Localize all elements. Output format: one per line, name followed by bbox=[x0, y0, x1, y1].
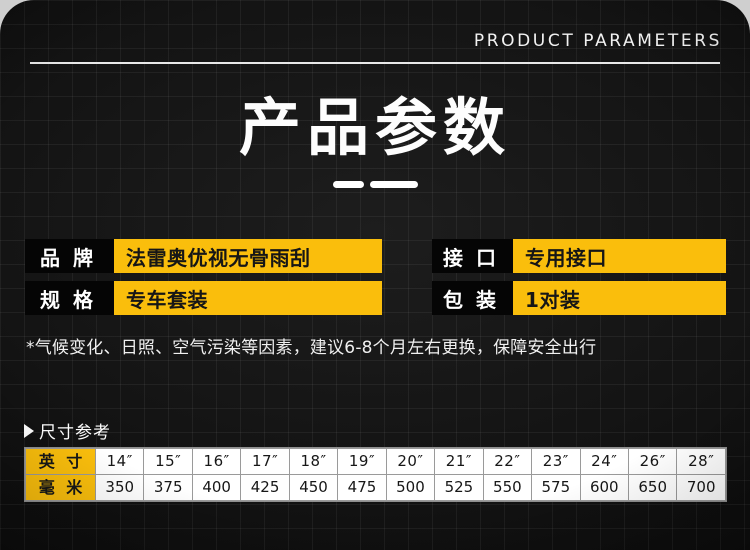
dark-panel: PRODUCT PARAMETERS 产品参数 品 牌 法雷奥优视无骨雨刮 规 … bbox=[0, 0, 750, 550]
table-cell: 24″ bbox=[580, 449, 628, 475]
size-reference-heading: 尺寸参考 bbox=[24, 418, 111, 443]
spec-value-specification: 专车套装 bbox=[114, 281, 382, 315]
table-rowhead-inch: 英 寸 bbox=[26, 449, 96, 475]
spec-value-brand: 法雷奥优视无骨雨刮 bbox=[114, 239, 382, 273]
spec-label-brand: 品 牌 bbox=[25, 239, 114, 273]
table-cell: 650 bbox=[628, 475, 676, 501]
table-cell: 500 bbox=[386, 475, 434, 501]
table-cell: 14″ bbox=[96, 449, 144, 475]
dash-short bbox=[333, 181, 364, 188]
table-cell: 19″ bbox=[338, 449, 386, 475]
table-cell: 23″ bbox=[532, 449, 580, 475]
table-cell: 17″ bbox=[241, 449, 289, 475]
table-cell: 525 bbox=[435, 475, 483, 501]
spec-block-left: 品 牌 法雷奥优视无骨雨刮 规 格 专车套装 bbox=[25, 239, 382, 315]
spec-label-specification: 规 格 bbox=[25, 281, 114, 315]
table-cell: 350 bbox=[96, 475, 144, 501]
header-divider bbox=[30, 62, 720, 64]
size-reference-table: 英 寸 14″ 15″ 16″ 17″ 18″ 19″ 20″ 21″ 22″ … bbox=[25, 448, 726, 501]
spec-row-brand: 品 牌 法雷奥优视无骨雨刮 bbox=[25, 239, 382, 273]
table-cell: 600 bbox=[580, 475, 628, 501]
spec-block-right: 接 口 专用接口 包 装 1对装 bbox=[432, 239, 726, 315]
table-cell: 20″ bbox=[386, 449, 434, 475]
title-dash-decoration bbox=[0, 181, 750, 188]
triangle-right-icon bbox=[24, 424, 34, 438]
spec-row-packaging: 包 装 1对装 bbox=[432, 281, 726, 315]
table-cell: 22″ bbox=[483, 449, 531, 475]
eyebrow-label: PRODUCT PARAMETERS bbox=[474, 31, 722, 51]
table-cell: 575 bbox=[532, 475, 580, 501]
spec-row-interface: 接 口 专用接口 bbox=[432, 239, 726, 273]
table-cell: 26″ bbox=[628, 449, 676, 475]
table-cell: 18″ bbox=[289, 449, 337, 475]
replacement-note: *气候变化、日照、空气污染等因素，建议6-8个月左右更换，保障安全出行 bbox=[26, 333, 596, 358]
spec-label-packaging: 包 装 bbox=[432, 281, 513, 315]
table-cell: 28″ bbox=[677, 449, 726, 475]
page-title: 产品参数 bbox=[0, 88, 750, 168]
size-reference-heading-label: 尺寸参考 bbox=[39, 418, 111, 443]
spec-row-specification: 规 格 专车套装 bbox=[25, 281, 382, 315]
table-cell: 700 bbox=[677, 475, 726, 501]
spec-value-packaging: 1对装 bbox=[513, 281, 726, 315]
table-cell: 425 bbox=[241, 475, 289, 501]
product-parameters-banner: PRODUCT PARAMETERS 产品参数 品 牌 法雷奥优视无骨雨刮 规 … bbox=[0, 0, 750, 550]
spec-value-interface: 专用接口 bbox=[513, 239, 726, 273]
table-cell: 550 bbox=[483, 475, 531, 501]
table-cell: 400 bbox=[192, 475, 240, 501]
table-row-inch: 英 寸 14″ 15″ 16″ 17″ 18″ 19″ 20″ 21″ 22″ … bbox=[26, 449, 726, 475]
spec-label-interface: 接 口 bbox=[432, 239, 513, 273]
table-cell: 475 bbox=[338, 475, 386, 501]
table-cell: 375 bbox=[144, 475, 192, 501]
dash-long bbox=[370, 181, 418, 188]
table-row-millimeter: 毫 米 350 375 400 425 450 475 500 525 550 … bbox=[26, 475, 726, 501]
table-cell: 16″ bbox=[192, 449, 240, 475]
table-cell: 450 bbox=[289, 475, 337, 501]
table-cell: 21″ bbox=[435, 449, 483, 475]
table-rowhead-millimeter: 毫 米 bbox=[26, 475, 96, 501]
table-cell: 15″ bbox=[144, 449, 192, 475]
